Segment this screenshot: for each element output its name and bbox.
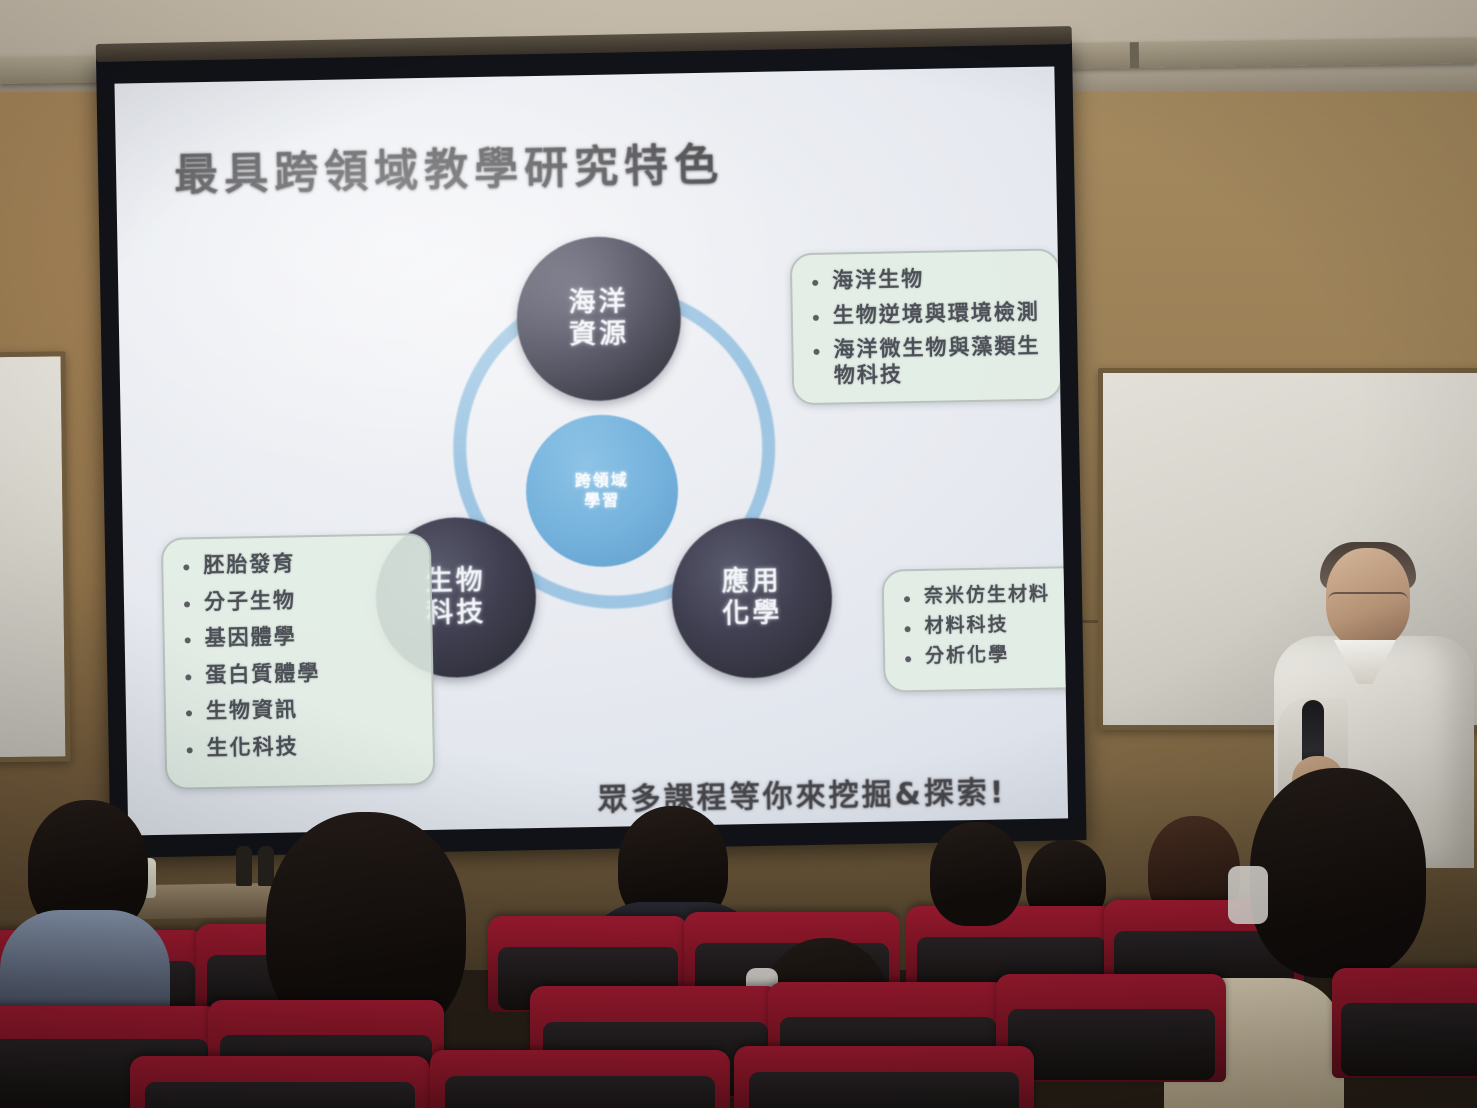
table-object	[236, 846, 252, 886]
callout-ocean-resources: 海洋生物 生物逆境與環境檢測 海洋微生物與藻類生物科技	[790, 248, 1063, 405]
whiteboard-left	[0, 351, 71, 762]
seat[interactable]	[734, 1046, 1034, 1108]
node-label-line: 應用	[721, 566, 782, 599]
glasses-icon	[1328, 592, 1408, 609]
audience-shoulders	[0, 910, 170, 1010]
list-item: 海洋微生物與藻類生物科技	[807, 334, 1044, 390]
list-item: 蛋白質體學	[179, 659, 415, 689]
list-item: 胚胎發育	[177, 549, 413, 579]
list-item: 生化科技	[180, 732, 416, 762]
node-label-line: 資源	[569, 318, 630, 351]
interdisciplinary-diagram: 海洋 資源 生物 科技 應用 化學 跨領域 學習	[388, 261, 816, 709]
seat[interactable]	[1332, 968, 1477, 1078]
projector-screen: 最具跨領域教學研究特色 海洋 資源 生物 科技 應用 化學 跨領域	[96, 40, 1086, 858]
node-label-line: 生物	[425, 565, 486, 598]
list-item: 基因體學	[178, 622, 414, 652]
hub-label-line: 跨領域	[575, 470, 629, 491]
slide-title: 最具跨領域教學研究特色	[173, 129, 724, 203]
lecture-hall-scene: 最具跨領域教學研究特色 海洋 資源 生物 科技 應用 化學 跨領域	[0, 0, 1477, 1108]
callout-applied-chemistry: 奈米仿生材料 材料科技 分析化學	[882, 566, 1069, 692]
list-item: 奈米仿生材料	[898, 582, 1068, 608]
list-item: 生物逆境與環境檢測	[807, 299, 1043, 329]
node-label-line: 科技	[426, 597, 487, 630]
hub-label-line: 學習	[584, 490, 620, 511]
audience-head	[1250, 768, 1426, 978]
list-item: 海洋生物	[806, 265, 1042, 295]
presentation-slide: 最具跨領域教學研究特色 海洋 資源 生物 科技 應用 化學 跨領域	[114, 66, 1068, 835]
seat[interactable]	[430, 1050, 730, 1108]
list-item: 生物資訊	[180, 696, 416, 726]
face-mask	[1228, 866, 1268, 924]
node-label-line: 海洋	[568, 286, 629, 319]
audience-head	[930, 822, 1022, 926]
callout-biotechnology: 胚胎發育 分子生物 基因體學 蛋白質體學 生物資訊 生化科技	[161, 533, 436, 790]
list-item: 材料科技	[898, 612, 1068, 638]
list-item: 分子生物	[178, 586, 414, 616]
node-label-line: 化學	[722, 598, 783, 631]
seat[interactable]	[130, 1056, 430, 1108]
node-applied-chemistry: 應用 化學	[671, 517, 834, 680]
list-item: 分析化學	[899, 642, 1068, 668]
table-object	[258, 846, 274, 886]
